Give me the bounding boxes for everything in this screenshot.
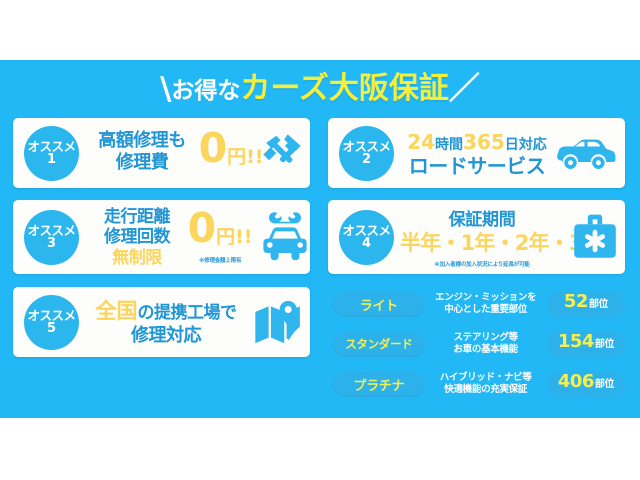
map-pin-icon [253, 299, 303, 349]
plan-description: ハイブリッド・ナビ等 快適機能の充実保証 [425, 372, 547, 396]
feature-2-days-unit: 日対応 [505, 137, 547, 153]
feature-5-line1: 全国の提携工場で [85, 299, 247, 325]
plan-row-platinum[interactable]: プラチナ ハイブリッド・ナビ等 快適機能の充実保証 406 部位 [333, 368, 625, 400]
feature-5-line2: 修理対応 [85, 325, 247, 348]
feature-4-line2: 半年・1年・2年・3年 [400, 231, 564, 256]
plan-desc-line1: ステアリング等 [425, 332, 547, 344]
plan-part-count: 52 部位 [547, 291, 625, 318]
feature-2-text: 24時間365日対応 ロードサービス [404, 130, 550, 179]
plan-row-standard[interactable]: スタンダード ステアリング等 お車の基本機能 154 部位 [333, 328, 625, 360]
feature-3-note: ※修理金額上限有 [199, 256, 241, 264]
feature-card-5: オススメ 5 全国の提携工場で 修理対応 [13, 287, 310, 357]
feature-1-line2: 修理費 [87, 152, 197, 174]
plan-row-light[interactable]: ライト エンジン・ミッションを 中心とした重要部位 52 部位 [333, 288, 625, 320]
badge-number: 4 [362, 237, 371, 251]
feature-card-2: オススメ 2 24時間365日対応 ロードサービス [328, 118, 625, 188]
headline-slash-left: \ [160, 74, 171, 105]
badge-osusume-3: オススメ 3 [24, 210, 79, 265]
feature-4-text: 保証期間 半年・1年・2年・3年 [400, 210, 564, 256]
feature-3-line1: 走行距離 [89, 207, 185, 227]
feature-1-amount-unit: 円!! [227, 142, 263, 169]
plan-count-unit: 部位 [595, 375, 614, 390]
feature-1-text: 高額修理も 修理費 [87, 130, 197, 174]
plan-part-count: 406 部位 [547, 371, 625, 398]
badge-osusume-5: オススメ 5 [24, 295, 79, 350]
feature-card-4: オススメ 4 保証期間 半年・1年・2年・3年 ※加入者様の加入状況により延長が… [328, 200, 625, 274]
plan-count-unit: 部位 [595, 335, 614, 350]
feature-2-hours: 24 [407, 130, 435, 154]
feature-5-text: 全国の提携工場で 修理対応 [85, 299, 247, 347]
car-front-wrench-icon [261, 208, 309, 270]
badge-number: 3 [47, 237, 56, 251]
feature-2-hours-unit: 時間 [435, 137, 463, 153]
plan-name-pill[interactable]: ライト [333, 292, 425, 317]
plan-part-count: 154 部位 [547, 331, 625, 358]
feature-5-partner: の提携工場で [138, 303, 237, 323]
feature-1-line1: 高額修理も [87, 130, 197, 152]
feature-1-amount-number: 0 [199, 128, 228, 169]
headline-prefix: お得な [171, 78, 240, 104]
plan-count-unit: 部位 [589, 295, 608, 310]
page-title: \お得なカーズ大阪保証／ [0, 74, 640, 105]
plan-count-number: 52 [564, 291, 588, 312]
feature-3-line2: 修理回数 [89, 227, 185, 247]
hammer-wrench-icon [259, 130, 305, 180]
plan-count-number: 154 [558, 331, 594, 352]
plan-name-pill[interactable]: スタンダード [333, 332, 425, 357]
plan-desc-line1: ハイブリッド・ナビ等 [425, 372, 547, 384]
feature-5-nationwide: 全国 [96, 299, 138, 323]
badge-osusume-4: オススメ 4 [339, 210, 394, 265]
feature-card-3: オススメ 3 走行距離 修理回数 無制限 0 円!! ※修理金額上限有 [13, 200, 310, 274]
feature-card-1: オススメ 1 高額修理も 修理費 0 円!! [13, 118, 310, 188]
advertisement-canvas: \お得なカーズ大阪保証／ オススメ 1 高額修理も 修理費 0 円!! [0, 0, 640, 480]
badge-osusume-1: オススメ 1 [24, 126, 79, 181]
plan-name-pill[interactable]: プラチナ [333, 372, 425, 397]
feature-2-line2: ロードサービス [404, 154, 550, 179]
feature-3-amount-unit: 円!! [216, 222, 252, 249]
feature-2-line1: 24時間365日対応 [404, 130, 550, 154]
feature-3-amount: 0 円!! [183, 208, 257, 249]
plan-description: ステアリング等 お車の基本機能 [425, 332, 547, 356]
toolbox-icon [571, 213, 619, 265]
feature-3-line3: 無制限 [89, 248, 185, 268]
plan-desc-line2: 快適機能の充実保証 [425, 384, 547, 396]
plan-description: エンジン・ミッションを 中心とした重要部位 [425, 292, 547, 316]
car-side-icon [555, 136, 617, 178]
headline-slash-right: ／ [449, 74, 480, 105]
feature-3-amount-number: 0 [188, 208, 217, 249]
badge-number: 1 [47, 153, 56, 167]
feature-2-days: 365 [463, 130, 505, 154]
feature-1-amount: 0 円!! [195, 128, 267, 169]
blue-stage: \お得なカーズ大阪保証／ オススメ 1 高額修理も 修理費 0 円!! [0, 60, 640, 418]
badge-number: 2 [362, 153, 371, 167]
badge-osusume-2: オススメ 2 [339, 126, 394, 181]
badge-number: 5 [47, 322, 56, 336]
plan-desc-line2: 中心とした重要部位 [425, 304, 547, 316]
feature-4-line1: 保証期間 [400, 210, 564, 231]
plan-desc-line2: お車の基本機能 [425, 344, 547, 356]
plan-count-number: 406 [558, 371, 594, 392]
feature-3-text: 走行距離 修理回数 無制限 [89, 207, 185, 268]
feature-4-note: ※加入者様の加入状況により延長が可能 [402, 260, 562, 268]
headline-brand: カーズ大阪保証 [240, 71, 449, 106]
plan-desc-line1: エンジン・ミッションを [425, 292, 547, 304]
